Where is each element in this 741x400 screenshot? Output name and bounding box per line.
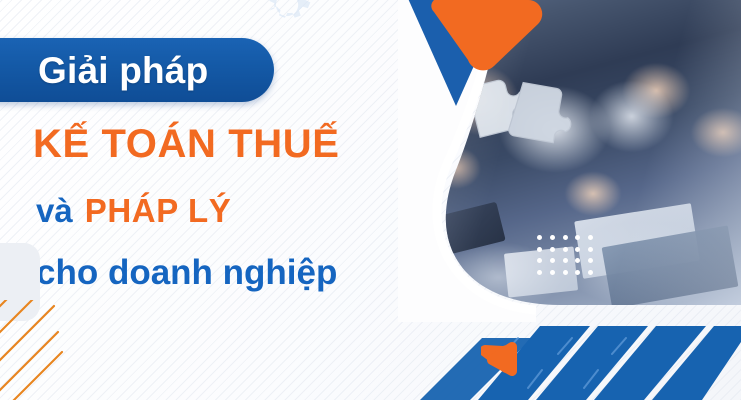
orange-diagonal-lines	[0, 300, 122, 400]
headline-line-4: cho doanh nghiệp	[36, 255, 337, 292]
promo-banner: Giải pháp KẾ TOÁN THUẾ vàPHÁP LÝ cho doa…	[0, 0, 741, 400]
triangle-left-orange	[481, 341, 523, 377]
headline-line-3: vàPHÁP LÝ	[36, 194, 231, 229]
headline-word-va: và	[36, 192, 73, 229]
triangle-group-top	[398, 0, 548, 124]
ribbon-badge: Giải pháp	[0, 38, 274, 102]
gear-icon	[256, 0, 318, 36]
ribbon-label: Giải pháp	[38, 52, 208, 89]
dot-grid	[537, 235, 601, 281]
diagonal-stripes-blue	[408, 300, 741, 400]
headline-line-2: KẾ TOÁN THUẾ	[33, 123, 339, 165]
headline-word-phaply: PHÁP LÝ	[85, 192, 232, 229]
